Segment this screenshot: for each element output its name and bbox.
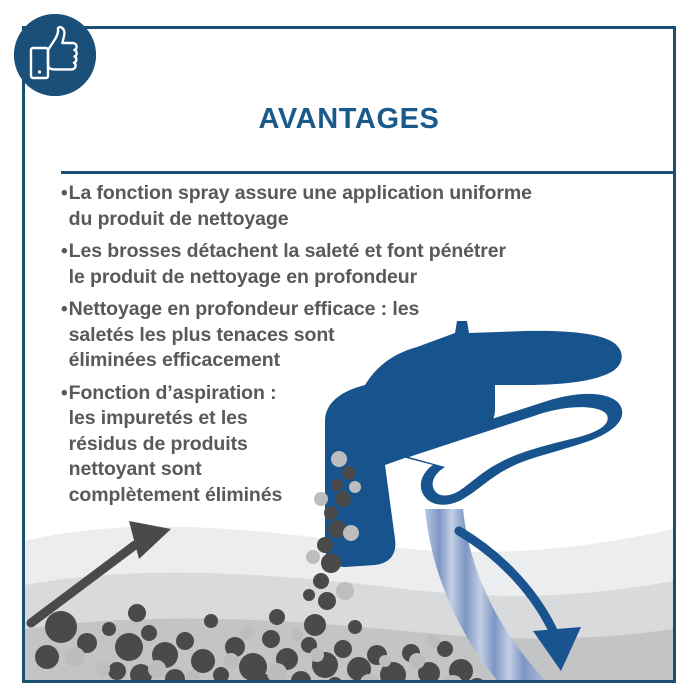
page-title: AVANTAGES xyxy=(25,103,673,136)
list-item: • La fonction spray assure une applicati… xyxy=(61,181,676,232)
advantages-poster: AVANTAGES • La fonction spray assure une… xyxy=(0,0,700,700)
list-item: • Fonction d’aspiration : les impuretés … xyxy=(61,381,676,509)
bullet-marker: • xyxy=(61,381,68,406)
list-item: • Les brosses détachent la saleté et fon… xyxy=(61,239,676,290)
advantages-list: • La fonction spray assure une applicati… xyxy=(61,181,676,515)
poster-frame: AVANTAGES • La fonction spray assure une… xyxy=(22,26,676,683)
bullet-text: Les brosses détachent la saleté et font … xyxy=(69,239,506,290)
bullet-marker: • xyxy=(61,181,68,206)
thumbs-up-icon xyxy=(14,14,96,96)
title-divider xyxy=(61,171,676,174)
bullet-marker: • xyxy=(61,297,68,322)
bullet-text: Nettoyage en profondeur efficace : les s… xyxy=(69,297,420,374)
thumbs-up-badge xyxy=(14,14,96,96)
bullet-text: Fonction d’aspiration : les impuretés et… xyxy=(69,381,283,509)
list-item: • Nettoyage en profondeur efficace : les… xyxy=(61,297,676,374)
bullet-marker: • xyxy=(61,239,68,264)
bullet-text: La fonction spray assure une application… xyxy=(69,181,532,232)
